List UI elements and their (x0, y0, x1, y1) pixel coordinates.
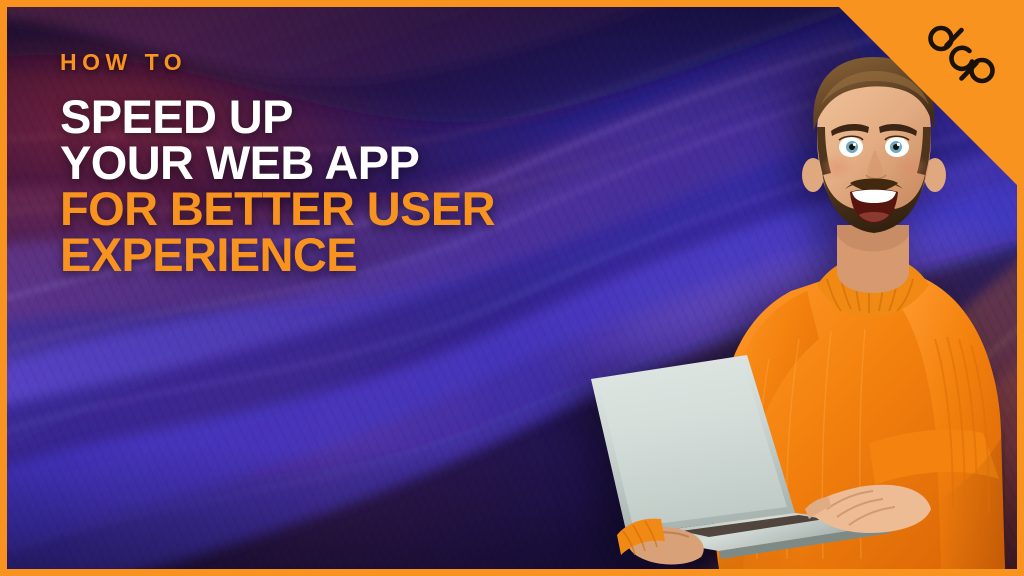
headline-line-1: SPEED UP (60, 94, 680, 140)
banner: HOW TO SPEED UP YOUR WEB APP FOR BETTER … (0, 0, 1024, 576)
headline-line-2: YOUR WEB APP (60, 140, 680, 186)
kicker-text: HOW TO (60, 51, 680, 74)
headline-block: HOW TO SPEED UP YOUR WEB APP FOR BETTER … (60, 51, 680, 278)
dcp-logo[interactable] (925, 21, 997, 93)
headline-line-4: EXPERIENCE (60, 232, 680, 278)
headline-line-3: FOR BETTER USER (60, 186, 680, 232)
artwork-area: HOW TO SPEED UP YOUR WEB APP FOR BETTER … (7, 7, 1017, 569)
